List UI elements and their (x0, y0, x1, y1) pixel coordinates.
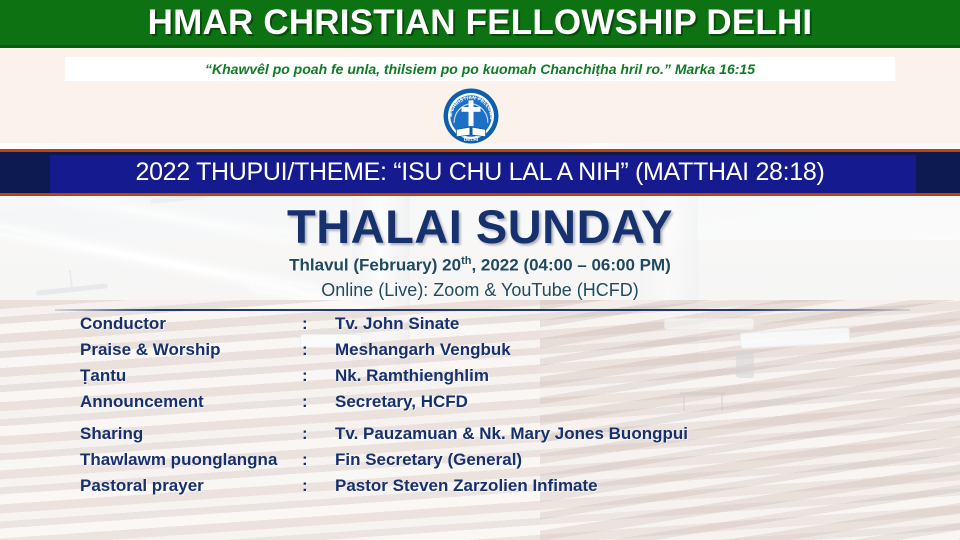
event-poster: HMAR CHRISTIAN FELLOWSHIP DELHI “Khawvêl… (0, 0, 960, 540)
program-row: Ṭantu:Nk. Ramthienghlim (80, 366, 940, 392)
date-suffix: , 2022 (04:00 – 06:00 PM) (471, 256, 670, 275)
organization-title: HMAR CHRISTIAN FELLOWSHIP DELHI (148, 3, 813, 43)
organization-header-bar: HMAR CHRISTIAN FELLOWSHIP DELHI (0, 0, 960, 48)
section-divider (55, 309, 910, 311)
fellowship-emblem-icon: HMAR CHRISTIAN FELLOWSHIP DELHI (443, 88, 499, 144)
program-role-label: Announcement (80, 392, 302, 412)
program-role-label: Conductor (80, 314, 302, 334)
svg-text:DELHI: DELHI (464, 137, 478, 143)
event-date-line: Thlavul (February) 20th, 2022 (04:00 – 0… (0, 255, 960, 276)
program-separator: : (302, 424, 335, 444)
program-person-name: Tv. Pauzamuan & Nk. Mary Jones Buongpui (335, 424, 688, 444)
program-row: Sharing:Tv. Pauzamuan & Nk. Mary Jones B… (80, 424, 940, 450)
program-separator: : (302, 340, 335, 360)
program-separator: : (302, 450, 335, 470)
event-title: THALAI SUNDAY (0, 199, 960, 254)
program-person-name: Secretary, HCFD (335, 392, 468, 412)
theme-banner: 2022 THUPUI/THEME: “ISU CHU LAL A NIH” (… (0, 149, 960, 196)
verse-text: “Khawvêl po poah fe unla, thilsiem po po… (205, 61, 755, 77)
fellowship-logo: HMAR CHRISTIAN FELLOWSHIP DELHI (443, 88, 499, 144)
program-row: Pastoral prayer:Pastor Steven Zarzolien … (80, 476, 940, 502)
theme-text: 2022 THUPUI/THEME: “ISU CHU LAL A NIH” (… (135, 158, 824, 187)
program-separator: : (302, 314, 335, 334)
program-separator: : (302, 366, 335, 386)
program-list: Conductor:Tv. John SinatePraise & Worshi… (80, 314, 940, 502)
date-prefix: Thlavul (February) 20 (289, 256, 461, 275)
program-role-label: Ṭantu (80, 366, 302, 386)
program-row: Announcement:Secretary, HCFD (80, 392, 940, 418)
program-row: Conductor:Tv. John Sinate (80, 314, 940, 340)
program-role-label: Sharing (80, 424, 302, 444)
program-role-label: Pastoral prayer (80, 476, 302, 496)
verse-box: “Khawvêl po poah fe unla, thilsiem po po… (65, 57, 895, 81)
program-separator: : (302, 476, 335, 496)
program-person-name: Fin Secretary (General) (335, 450, 522, 470)
program-person-name: Meshangarh Vengbuk (335, 340, 511, 360)
program-row: Praise & Worship:Meshangarh Vengbuk (80, 340, 940, 366)
program-person-name: Nk. Ramthienghlim (335, 366, 489, 386)
program-row: Thawlawm puonglangna:Fin Secretary (Gene… (80, 450, 940, 476)
program-person-name: Tv. John Sinate (335, 314, 459, 334)
program-role-label: Praise & Worship (80, 340, 302, 360)
date-ordinal: th (461, 255, 471, 267)
program-person-name: Pastor Steven Zarzolien Infimate (335, 476, 598, 496)
online-platform-line: Online (Live): Zoom & YouTube (HCFD) (0, 280, 960, 301)
program-separator: : (302, 392, 335, 412)
program-role-label: Thawlawm puonglangna (80, 450, 302, 470)
